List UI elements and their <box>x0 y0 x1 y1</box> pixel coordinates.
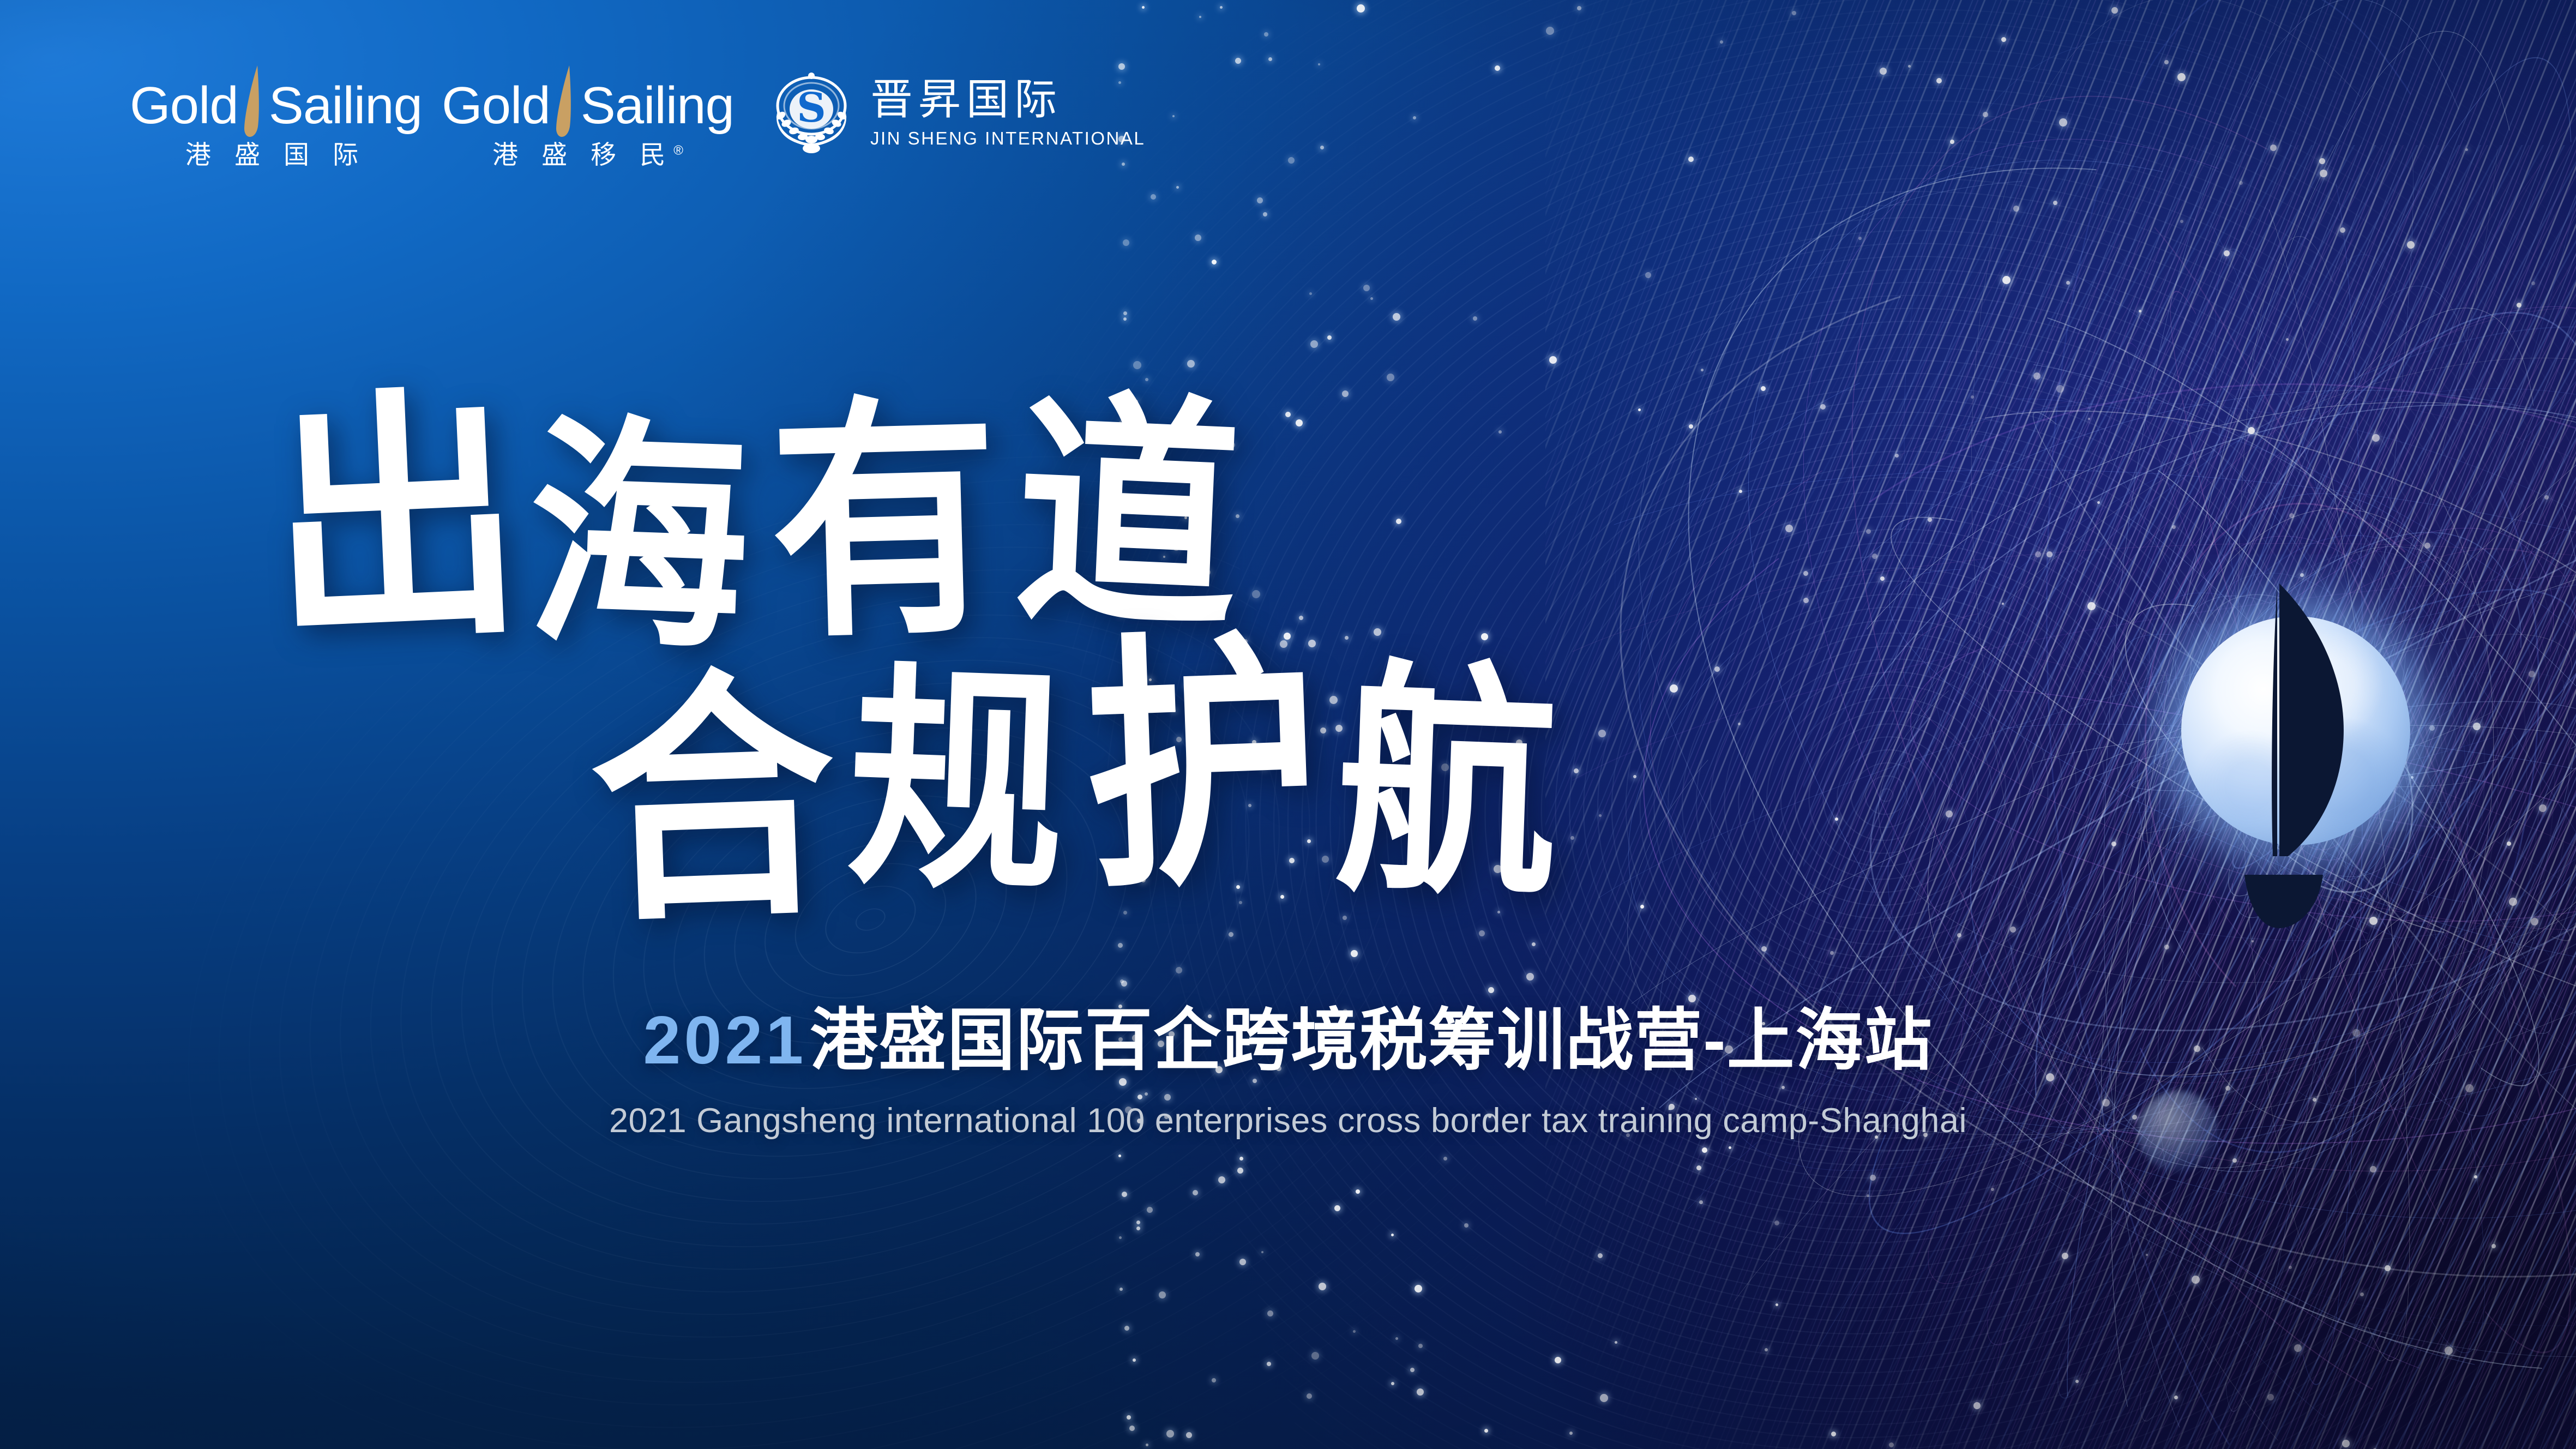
registered-trademark-icon: ® <box>673 143 683 158</box>
logo-chinese-name: 港 盛 移 民® <box>442 142 734 167</box>
logo-word-sailing: Sailing <box>269 80 422 132</box>
logo-word-gold: Gold <box>130 80 238 132</box>
svg-text:S: S <box>797 85 826 131</box>
logo-word-gold: Gold <box>442 80 550 132</box>
subtitle-chinese-text: 港盛国际百企跨境税筹训战营-上海站 <box>810 1003 1933 1078</box>
logo-bar: Gold Sailing 港 盛 国 际 Gold <box>130 65 1145 175</box>
logo-jin-sheng-international[interactable]: S 晋昇国际 JIN SHENG INTERNA <box>765 65 1145 159</box>
subtitle-year: 2021 <box>643 1003 806 1078</box>
logo-wordmark: Gold Sailing <box>442 65 734 132</box>
subtitle-english: 2021 Gangsheng international 100 enterpr… <box>0 1104 2576 1138</box>
partner-chinese-name: 晋昇国际 <box>870 78 1145 121</box>
jin-sheng-emblem-icon: S <box>765 65 858 159</box>
partner-english-name: JIN SHENG INTERNATIONAL <box>870 129 1145 147</box>
subtitle-chinese: 2021港盛国际百企跨境税筹训战营-上海站 <box>0 1007 2576 1074</box>
logo-wordmark: Gold Sailing <box>130 65 422 132</box>
sail-icon <box>555 65 576 137</box>
logo-chinese-text: 港 盛 移 民 <box>492 140 673 169</box>
logo-chinese-name: 港 盛 国 际 <box>130 142 422 167</box>
sailboat-silhouette-icon <box>2116 534 2530 949</box>
moon-sailboat-group <box>2116 534 2530 949</box>
logo-gold-sailing-international[interactable]: Gold Sailing 港 盛 国 际 <box>130 65 422 175</box>
logo-word-sailing: Sailing <box>581 80 734 132</box>
sail-icon <box>243 65 264 137</box>
event-banner: Gold Sailing 港 盛 国 际 Gold <box>0 0 2576 1449</box>
logo-gold-sailing-immigration[interactable]: Gold Sailing 港 盛 移 民® <box>442 65 734 175</box>
